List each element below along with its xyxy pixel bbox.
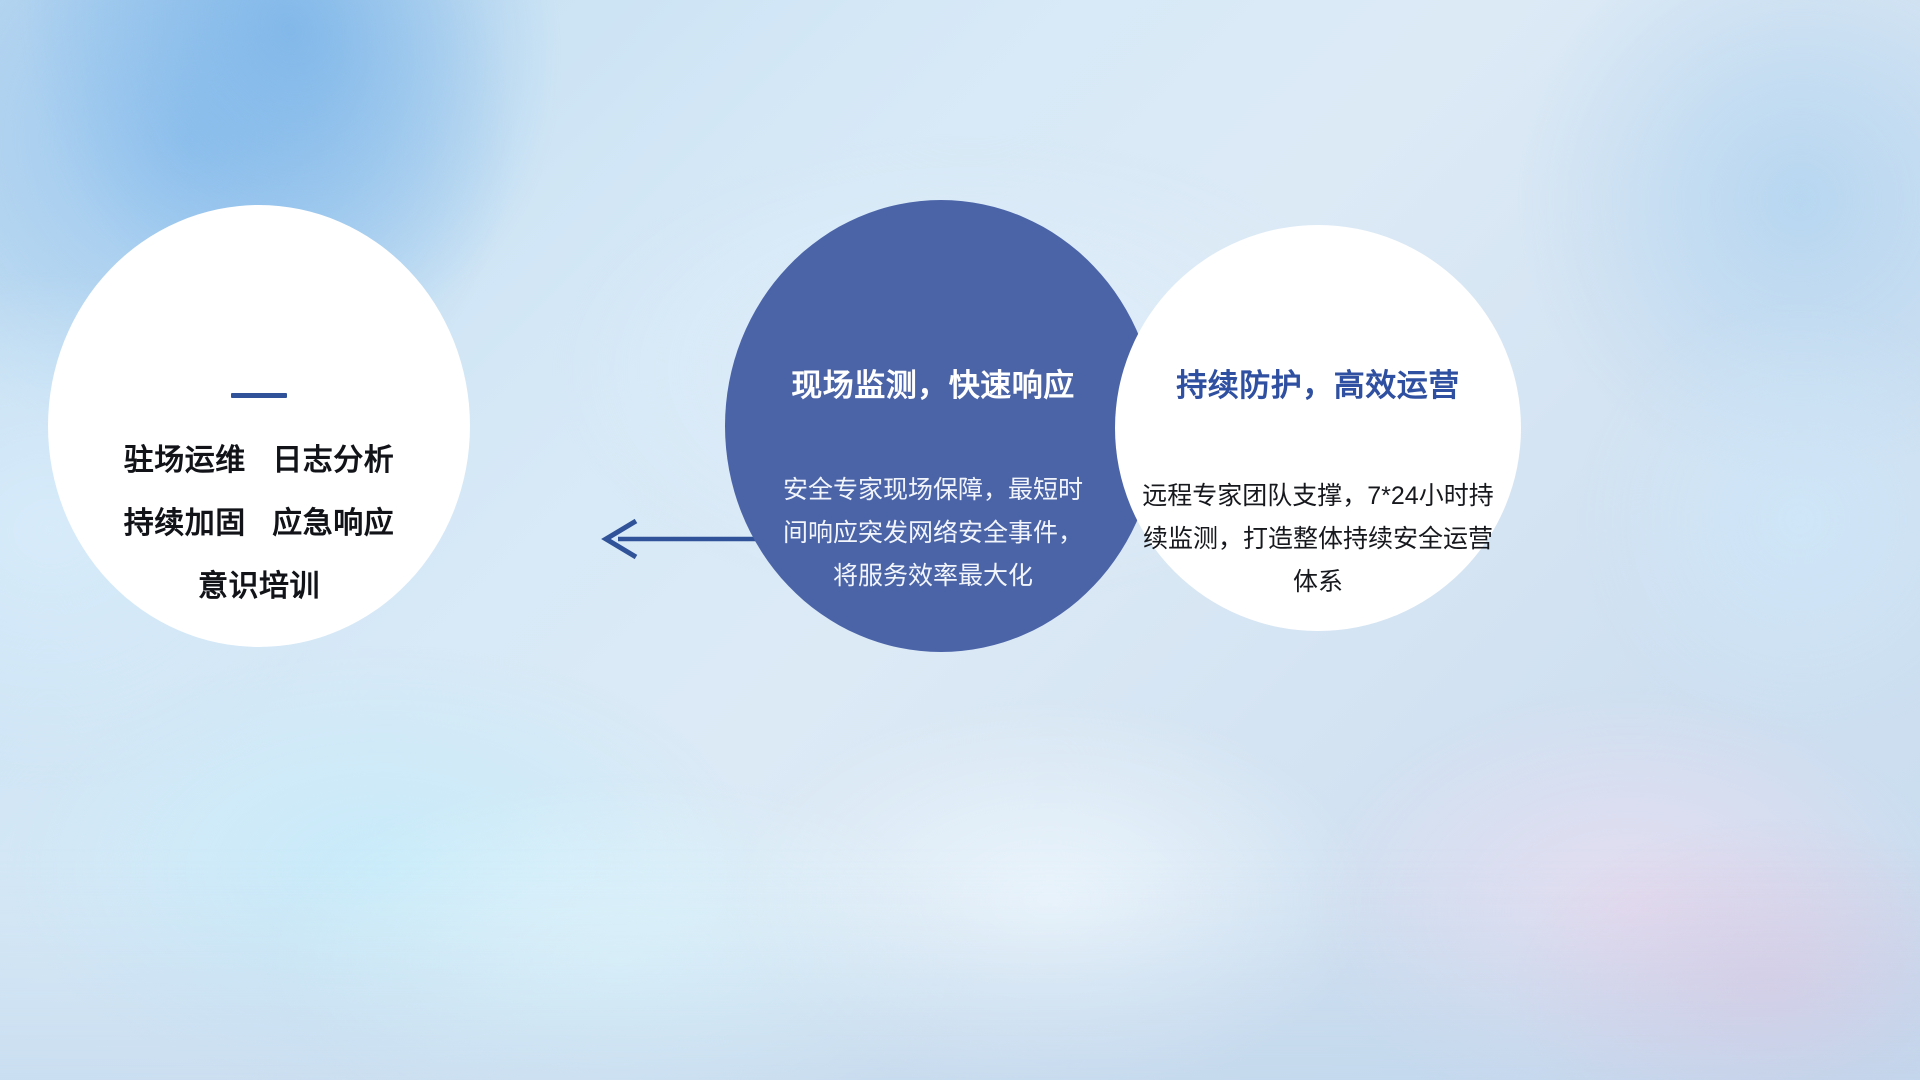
right-circle-content: 持续防护，高效运营 远程专家团队支撑，7*24小时持续监测，打造整体持续安全运营… bbox=[1115, 225, 1521, 631]
right-circle-body: 远程专家团队支撑，7*24小时持续监测，打造整体持续安全运营体系 bbox=[1132, 475, 1504, 604]
center-circle-node[interactable]: 现场监测，快速响应 安全专家现场保障，最短时间响应突发网络安全事件，将服务效率最… bbox=[725, 200, 1157, 652]
center-circle-content: 现场监测，快速响应 安全专家现场保障，最短时间响应突发网络安全事件，将服务效率最… bbox=[757, 200, 1109, 652]
right-circle-title: 持续防护，高效运营 bbox=[1176, 360, 1460, 405]
left-circle-line-1: 驻场运维 日志分析 bbox=[124, 446, 395, 476]
left-circle-node[interactable]: 驻场运维 日志分析 持续加固 应急响应 意识培训 bbox=[48, 205, 470, 647]
left-circle-content: 驻场运维 日志分析 持续加固 应急响应 意识培训 bbox=[48, 205, 470, 647]
center-circle-title: 现场监测，快速响应 bbox=[791, 360, 1075, 405]
diagram-stage: 现场监测，快速响应 安全专家现场保障，最短时间响应突发网络安全事件，将服务效率最… bbox=[0, 0, 1920, 1080]
left-circle-line-2: 持续加固 应急响应 bbox=[124, 509, 395, 539]
center-circle-body: 安全专家现场保障，最短时间响应突发网络安全事件，将服务效率最大化 bbox=[778, 469, 1088, 598]
accent-dash-divider bbox=[231, 393, 287, 398]
right-circle-node[interactable]: 持续防护，高效运营 远程专家团队支撑，7*24小时持续监测，打造整体持续安全运营… bbox=[1115, 225, 1521, 631]
left-circle-line-3: 意识培训 bbox=[198, 572, 320, 602]
